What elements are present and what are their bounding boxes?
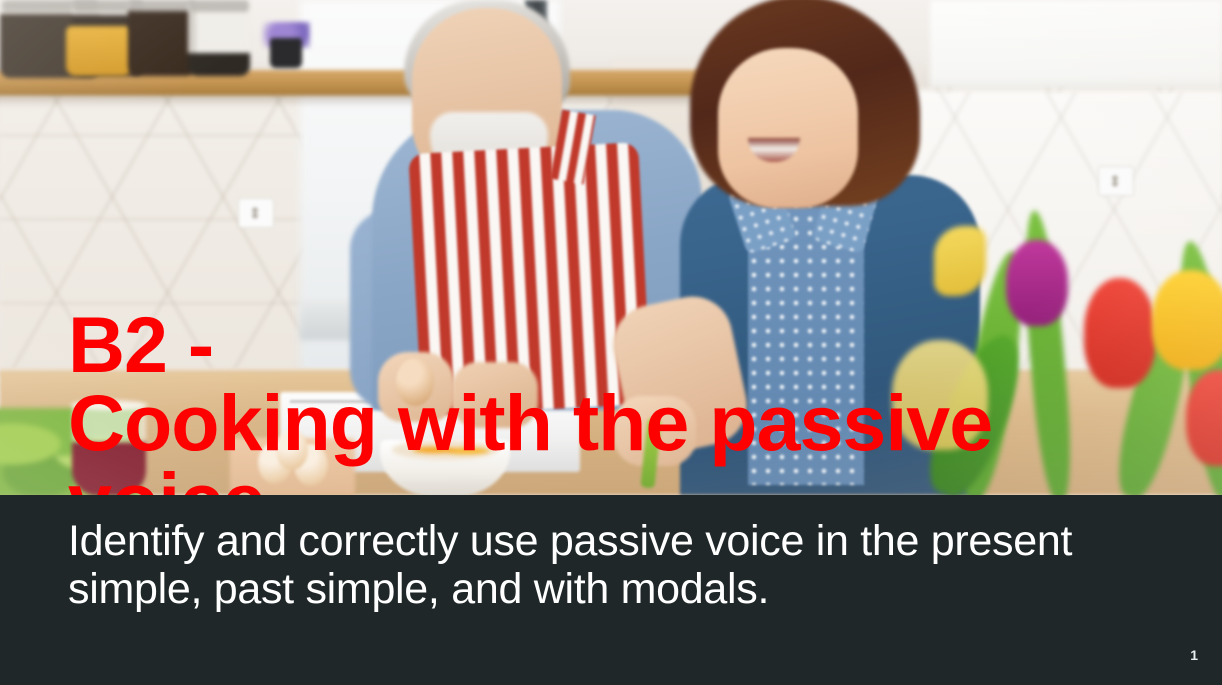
wall-outlet bbox=[1098, 166, 1134, 196]
subtitle-panel: Identify and correctly use passive voice… bbox=[0, 495, 1222, 685]
bananas bbox=[934, 226, 986, 296]
storage-jar bbox=[188, 0, 250, 76]
storage-jar bbox=[128, 0, 196, 76]
jar-lid bbox=[189, 0, 249, 12]
wall-outlet bbox=[238, 198, 274, 228]
potted-plant-pot bbox=[270, 38, 302, 68]
woman-face bbox=[718, 48, 858, 208]
slide-subtitle: Identify and correctly use passive voice… bbox=[68, 517, 1078, 613]
slide-title: B2 - Cooking with the passive voice bbox=[68, 306, 1188, 495]
jar-lid bbox=[129, 0, 194, 12]
hero-photo: B2 - Cooking with the passive voice bbox=[0, 0, 1222, 495]
shelf-shadow bbox=[0, 96, 730, 106]
slide: B2 - Cooking with the passive voice Iden… bbox=[0, 0, 1222, 685]
storage-jar bbox=[66, 26, 132, 76]
white-cabinet bbox=[930, 0, 1222, 96]
page-number: 1 bbox=[1190, 647, 1198, 663]
